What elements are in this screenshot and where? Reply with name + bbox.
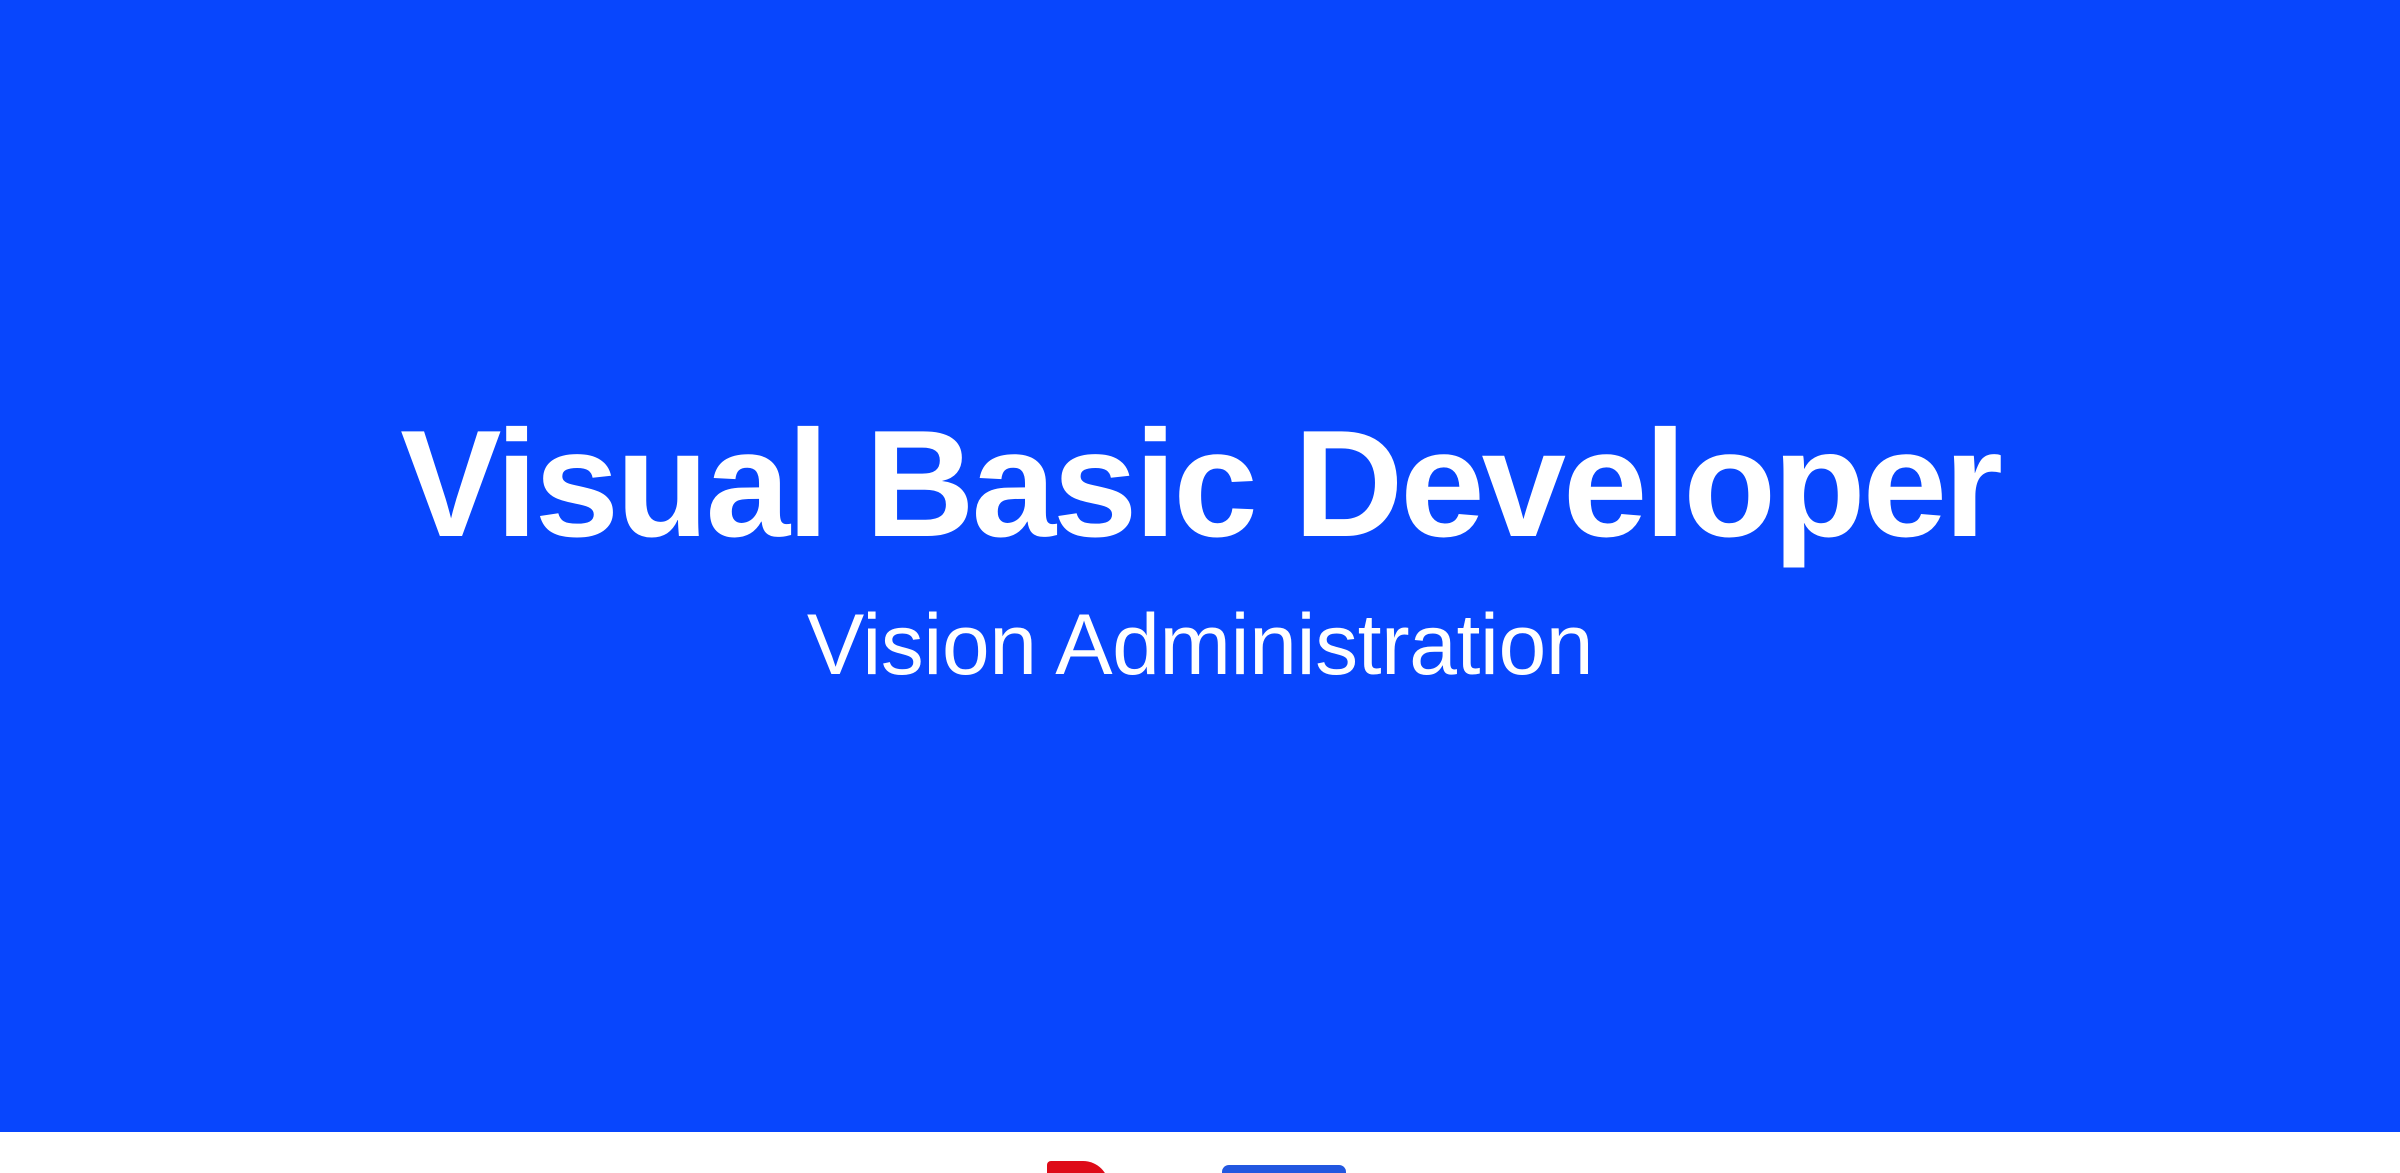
page-title: Visual Basic Developer (400, 408, 2000, 560)
page-subtitle: Vision Administration (807, 602, 1593, 688)
title-slide: Visual Basic Developer Vision Administra… (0, 0, 2400, 1173)
title-block: Visual Basic Developer Vision Administra… (0, 0, 2400, 1132)
red-logo-mark (1047, 1161, 1109, 1173)
blue-logo-bar (1222, 1165, 1346, 1173)
footer-band (0, 1132, 2400, 1173)
